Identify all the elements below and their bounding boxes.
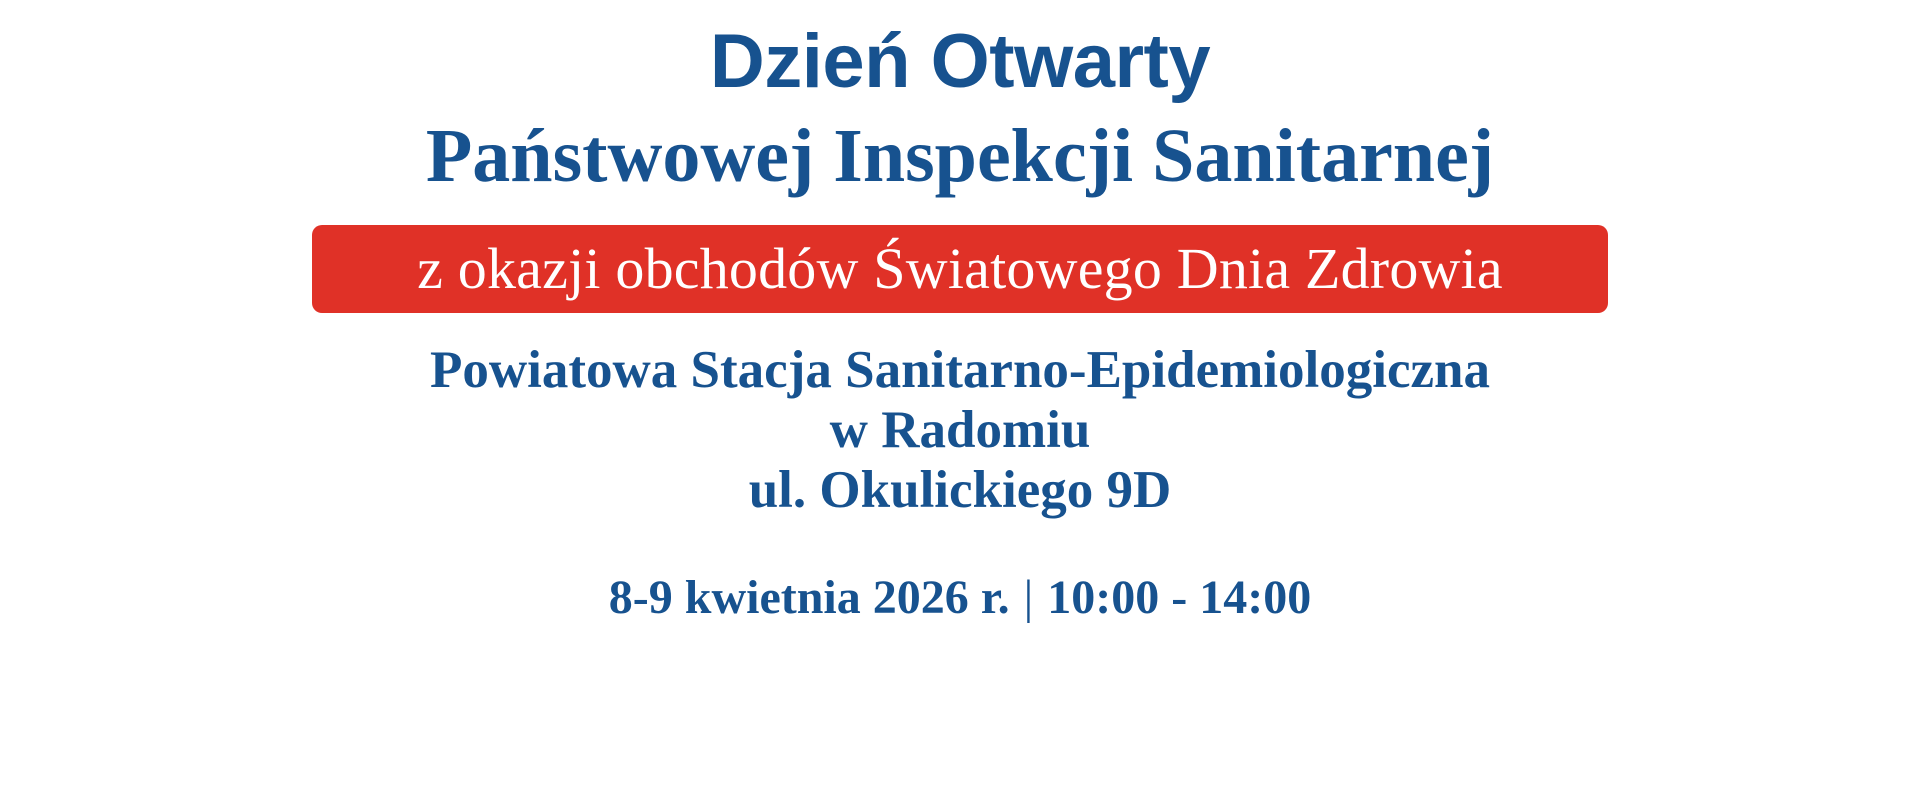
- datetime-block: 8-9 kwietnia 2026 r.|10:00 - 14:00: [0, 570, 1920, 626]
- event-hours: 10:00 - 14:00: [1047, 571, 1311, 624]
- datetime-line: 8-9 kwietnia 2026 r.|10:00 - 14:00: [0, 570, 1920, 626]
- address-line-city: w Radomiu: [0, 400, 1920, 460]
- headline-block: Dzień Otwarty Państwowej Inspekcji Sanit…: [0, 14, 1920, 202]
- address-line-street: ul. Okulickiego 9D: [0, 460, 1920, 520]
- occasion-banner-text: z okazji obchodów Światowego Dnia Zdrowi…: [417, 239, 1503, 299]
- headline-line-2: Państwowej Inspekcji Sanitarnej: [0, 110, 1920, 202]
- address-block: Powiatowa Stacja Sanitarno-Epidemiologic…: [0, 340, 1920, 520]
- banner-wrapper: z okazji obchodów Światowego Dnia Zdrowi…: [0, 225, 1920, 313]
- event-date: 8-9 kwietnia 2026 r.: [609, 571, 1010, 624]
- datetime-separator: |: [1010, 570, 1048, 626]
- headline-line-1: Dzień Otwarty: [0, 14, 1920, 110]
- address-line-institution: Powiatowa Stacja Sanitarno-Epidemiologic…: [0, 340, 1920, 400]
- occasion-banner: z okazji obchodów Światowego Dnia Zdrowi…: [312, 225, 1608, 313]
- poster-root: Dzień Otwarty Państwowej Inspekcji Sanit…: [0, 0, 1920, 810]
